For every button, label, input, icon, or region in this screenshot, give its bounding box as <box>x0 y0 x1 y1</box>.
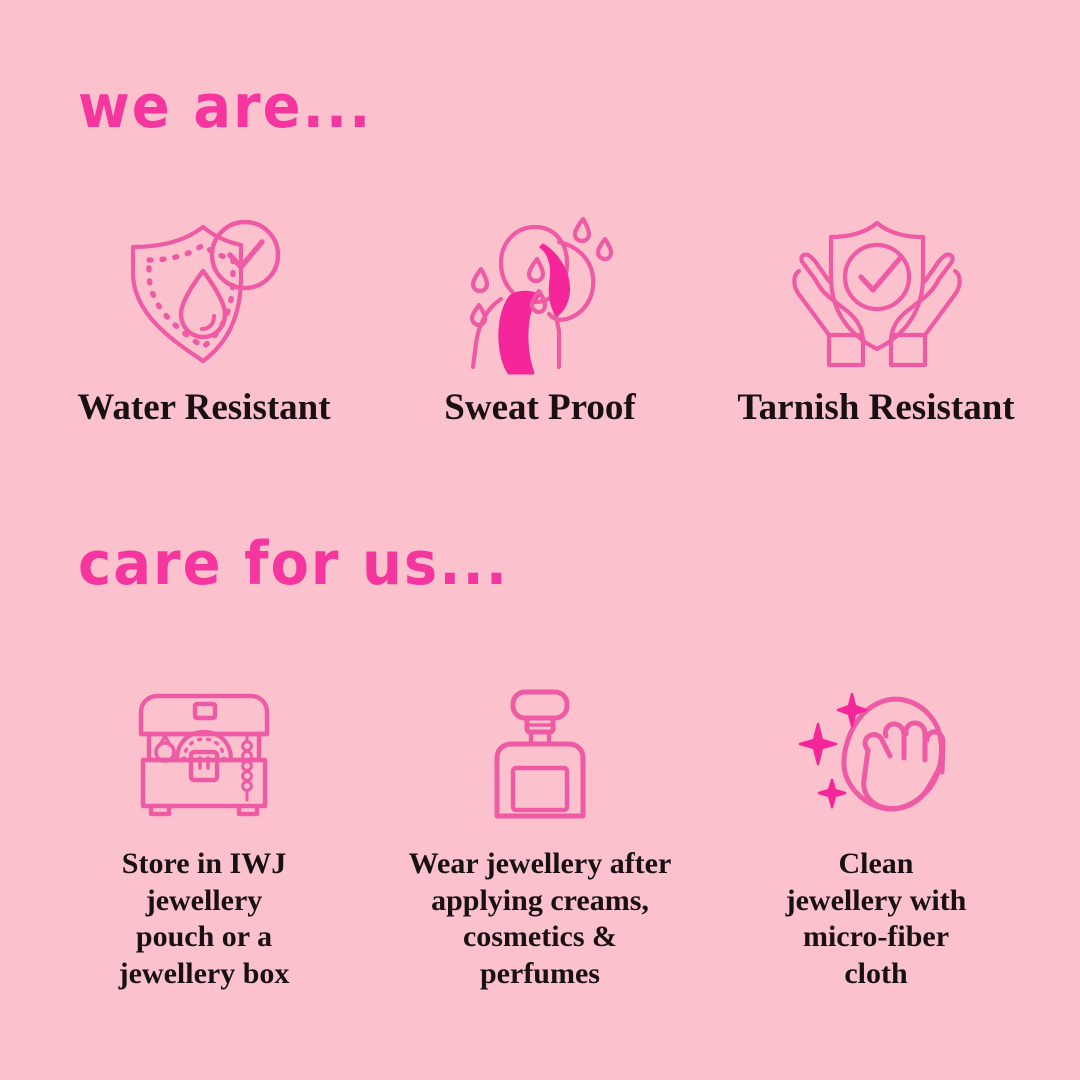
caption-line: cloth <box>786 956 967 993</box>
feature-cell-clean-with-cloth: Clean jewellery with micro-fiber cloth <box>716 680 1036 992</box>
feature-cell-store-jewellery: Store in IWJ jewellery pouch or a jewell… <box>44 680 364 992</box>
caption-line: jewellery <box>119 883 290 920</box>
caption-line: Clean <box>786 846 967 883</box>
section-heading-care-for-us: care for us... <box>78 535 509 594</box>
feature-label: Tarnish Resistant <box>737 389 1014 427</box>
caption-line: applying creams, <box>409 883 672 920</box>
feature-row-we-are: Water Resistant <box>0 215 1080 427</box>
perfume-bottle-icon <box>475 680 605 820</box>
feature-row-care-for-us: Store in IWJ jewellery pouch or a jewell… <box>0 680 1080 992</box>
poster-canvas: we are... Water Resistant <box>0 0 1080 1080</box>
feature-cell-wear-after-cosmetics: Wear jewellery after applying creams, co… <box>380 680 700 992</box>
hand-cloth-sparkle-icon <box>794 680 959 820</box>
care-caption: Wear jewellery after applying creams, co… <box>409 846 672 992</box>
caption-line: cosmetics & <box>409 919 672 956</box>
caption-line: jewellery box <box>119 956 290 993</box>
hands-holding-shield-check-icon <box>789 215 964 375</box>
shield-water-drop-check-icon <box>119 215 289 375</box>
caption-line: Store in IWJ <box>119 846 290 883</box>
caption-line: jewellery with <box>786 883 967 920</box>
care-caption: Store in IWJ jewellery pouch or a jewell… <box>119 846 290 992</box>
feature-cell-tarnish-resistant: Tarnish Resistant <box>716 215 1036 427</box>
caption-line: micro-fiber <box>786 919 967 956</box>
jewellery-box-icon <box>129 680 279 820</box>
feature-label: Water Resistant <box>77 389 330 427</box>
section-heading-we-are: we are... <box>78 78 372 137</box>
caption-line: Wear jewellery after <box>409 846 672 883</box>
person-wiping-sweat-icon <box>455 215 625 375</box>
care-caption: Clean jewellery with micro-fiber cloth <box>786 846 967 992</box>
feature-label: Sweat Proof <box>444 389 635 427</box>
caption-line: pouch or a <box>119 919 290 956</box>
feature-cell-water-resistant: Water Resistant <box>44 215 364 427</box>
caption-line: perfumes <box>409 956 672 993</box>
feature-cell-sweat-proof: Sweat Proof <box>380 215 700 427</box>
